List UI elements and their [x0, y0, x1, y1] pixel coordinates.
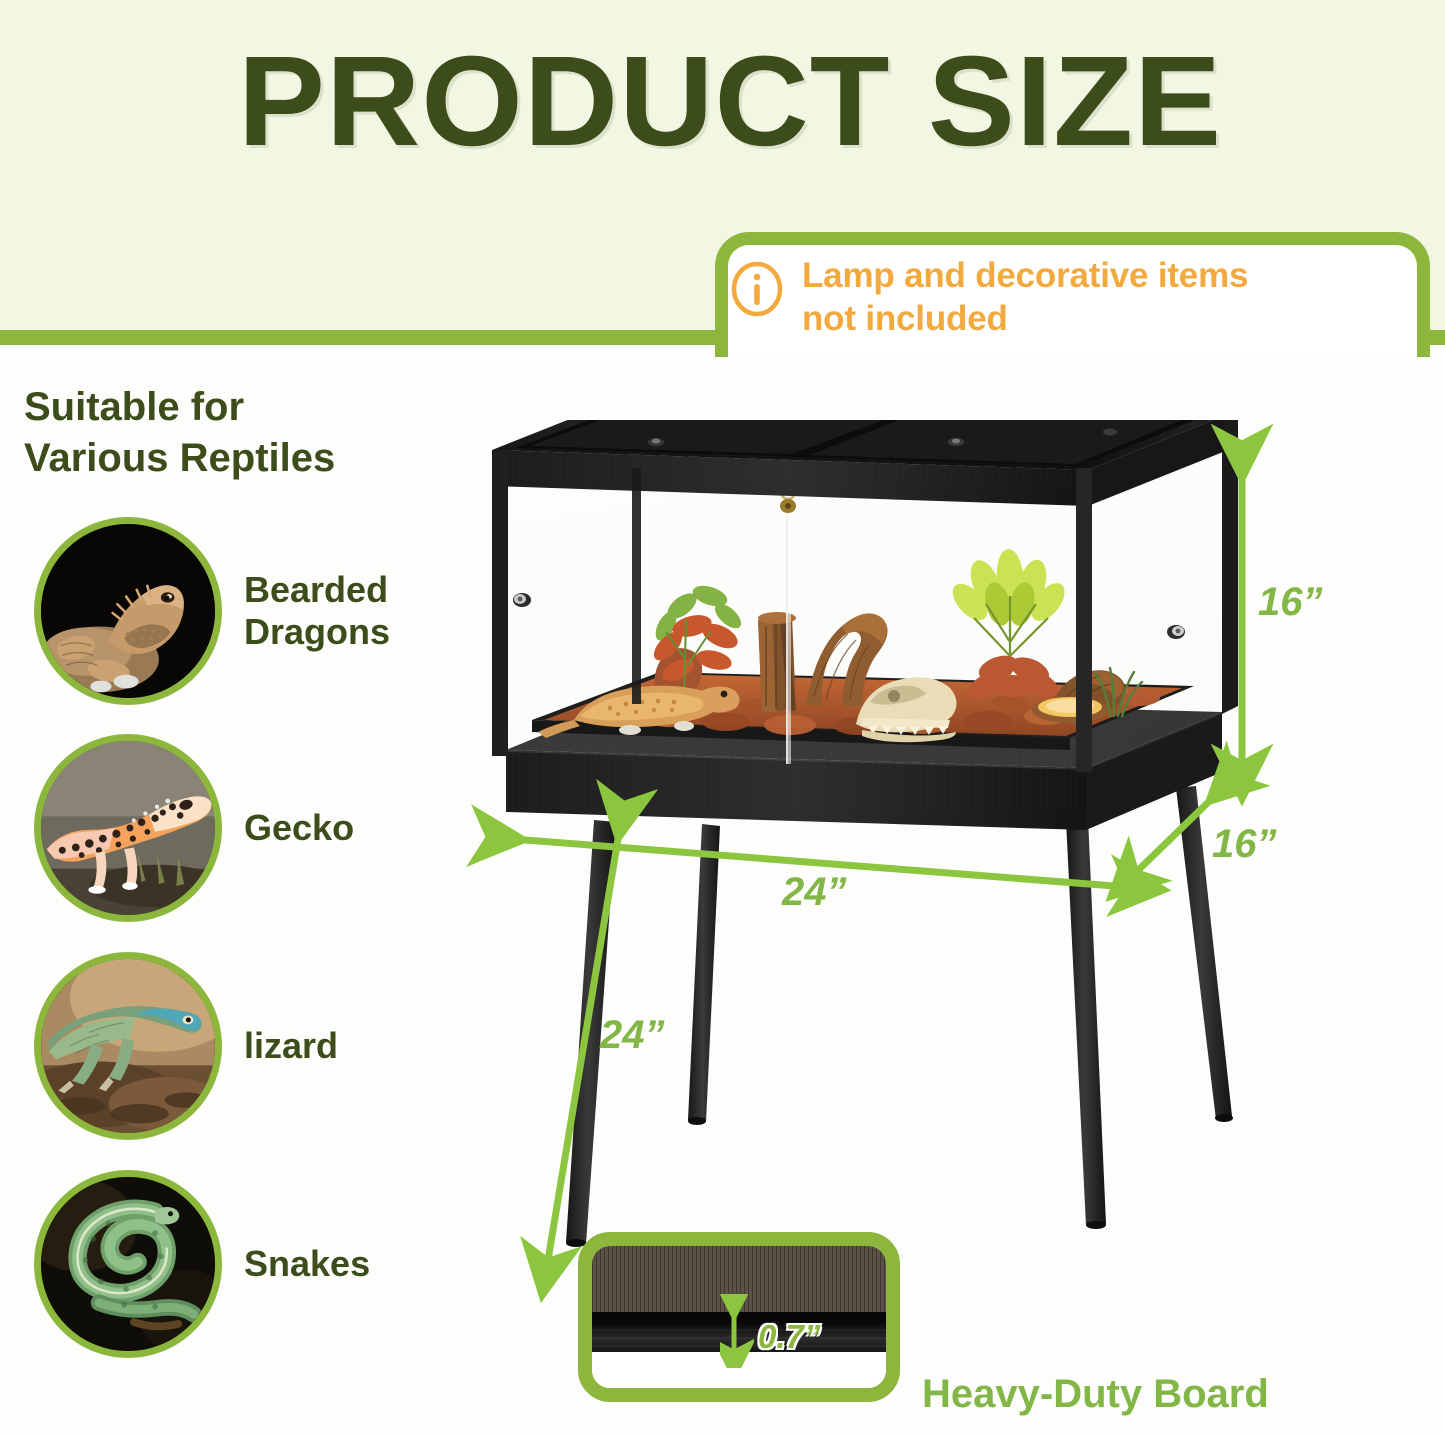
- dimension-label-leg-height: 24”: [600, 1013, 665, 1058]
- heavy-duty-board-caption: Heavy-Duty Board: [922, 1372, 1269, 1417]
- dimension-label-depth: 16”: [1212, 822, 1277, 867]
- dimension-arrows: [0, 0, 1445, 1434]
- board-thickness-arrow: [720, 1294, 754, 1368]
- dimension-label-board-thickness: 0.7”: [758, 1318, 820, 1356]
- dimension-label-width: 24”: [782, 870, 847, 915]
- heavy-duty-board-inset: [578, 1232, 900, 1402]
- dimension-label-height: 16”: [1258, 580, 1323, 625]
